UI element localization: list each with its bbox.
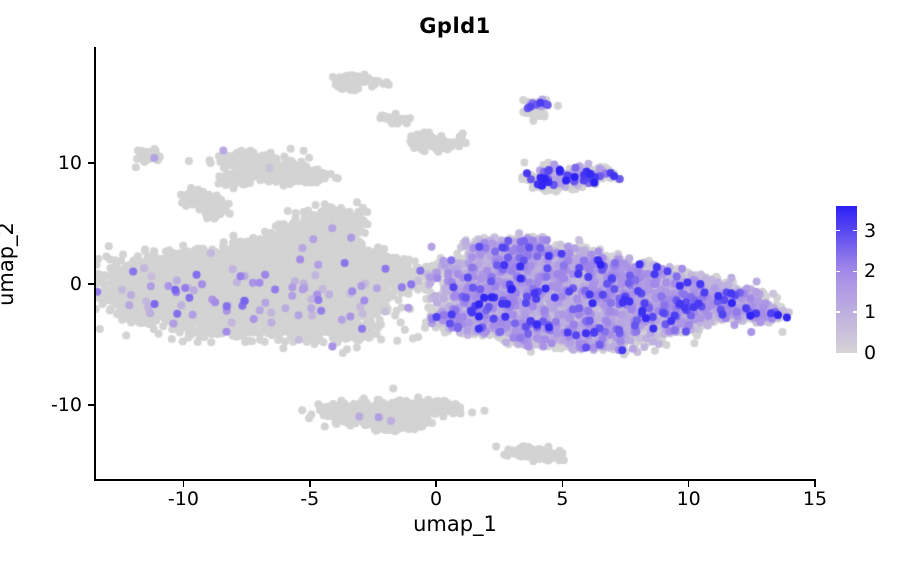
y-axis-label: umap_2 <box>0 222 18 306</box>
colorbar-tick-mark <box>836 311 840 313</box>
colorbar-tick-mark <box>853 230 857 232</box>
y-axis-spine <box>94 47 96 481</box>
x-tick-mark <box>562 481 564 487</box>
colorbar-tick-mark <box>853 271 857 273</box>
x-tick-label: 0 <box>430 488 442 510</box>
colorbar-tick-mark <box>853 311 857 313</box>
x-tick-mark <box>435 481 437 487</box>
colorbar-tick-label: 3 <box>864 220 876 242</box>
x-tick-label: -5 <box>300 488 319 510</box>
x-tick-label: -10 <box>168 488 199 510</box>
y-tick-label: 10 <box>58 152 82 174</box>
colorbar-tick-mark <box>836 271 840 273</box>
x-tick-mark <box>183 481 185 487</box>
y-tick-mark <box>88 162 94 164</box>
y-tick-mark <box>88 283 94 285</box>
colorbar-tick-label: 1 <box>864 301 876 323</box>
colorbar-tick-label: 0 <box>864 342 876 364</box>
scatter-points-canvas <box>95 48 815 480</box>
colorbar-tick-label: 2 <box>864 260 876 282</box>
x-tick-label: 10 <box>677 488 701 510</box>
y-tick-mark <box>88 404 94 406</box>
colorbar-tick-mark <box>836 230 840 232</box>
y-tick-label: 0 <box>70 273 82 295</box>
x-tick-mark <box>688 481 690 487</box>
plot-title: Gpld1 <box>0 14 911 38</box>
colorbar-gradient <box>836 206 857 353</box>
plot-title-text: Gpld1 <box>419 14 491 38</box>
plot-axes-area <box>95 48 815 480</box>
y-tick-label: -10 <box>51 394 82 416</box>
colorbar <box>836 206 857 353</box>
x-tick-label: 15 <box>803 488 827 510</box>
x-tick-label: 5 <box>556 488 568 510</box>
x-axis-spine <box>94 479 816 481</box>
x-tick-mark <box>814 481 816 487</box>
umap-feature-plot: Gpld1 -10-5051015 -10010 umap_1 umap_2 0… <box>0 0 911 562</box>
x-tick-mark <box>309 481 311 487</box>
x-axis-label: umap_1 <box>95 512 815 536</box>
